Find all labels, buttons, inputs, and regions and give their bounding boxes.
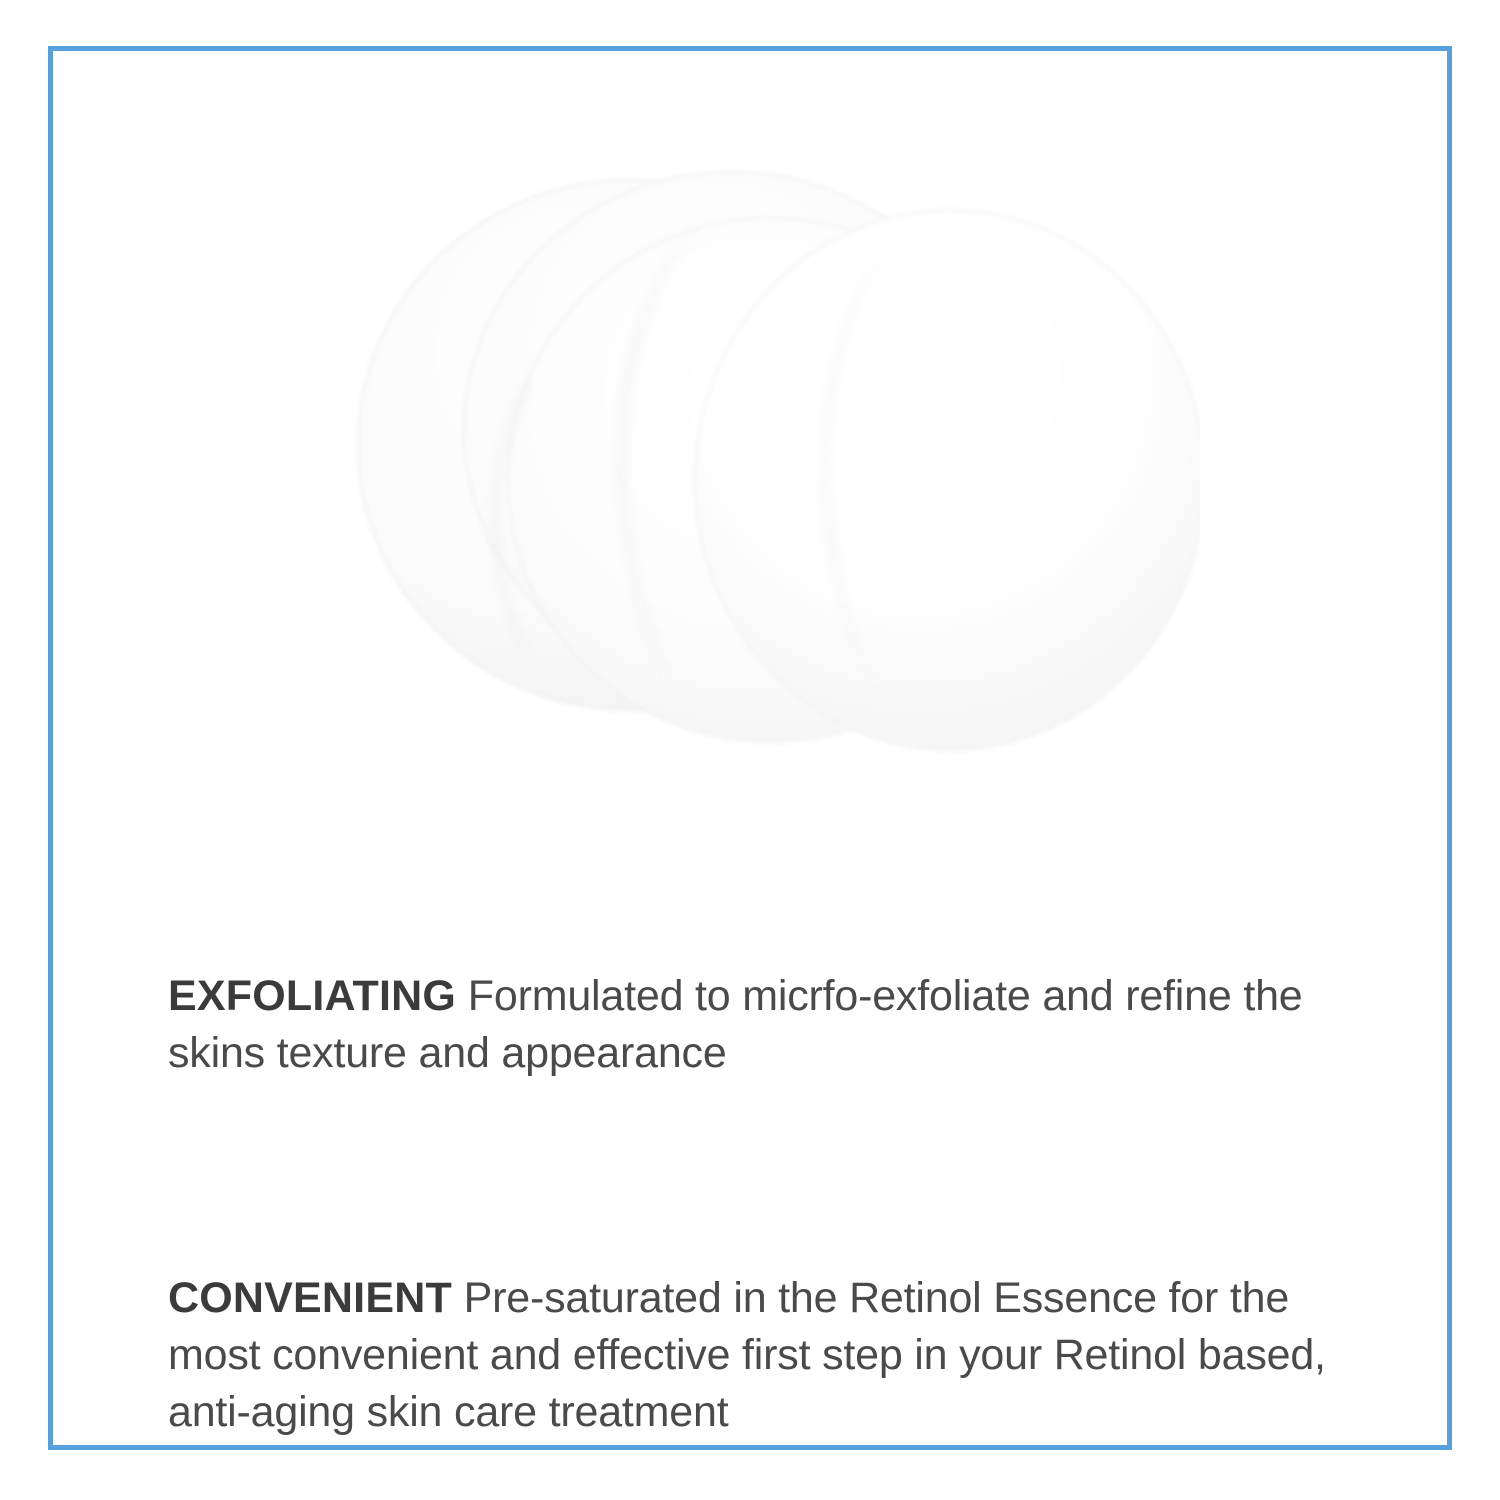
cotton-pad-front-right [695,210,1200,750]
product-photo-cotton-pads [300,130,1200,780]
feature-convenient-lead: CONVENIENT [168,1274,452,1322]
feature-list: EXFOLIATING Formulated to micrfo-exfolia… [168,925,1338,1484]
product-infographic-page: EXFOLIATING Formulated to micrfo-exfolia… [0,0,1500,1500]
feature-exfoliating-lead: EXFOLIATING [168,972,456,1020]
feature-exfoliating: EXFOLIATING Formulated to micrfo-exfolia… [168,968,1338,1082]
feature-convenient: CONVENIENT Pre-saturated in the Retinol … [168,1270,1338,1441]
